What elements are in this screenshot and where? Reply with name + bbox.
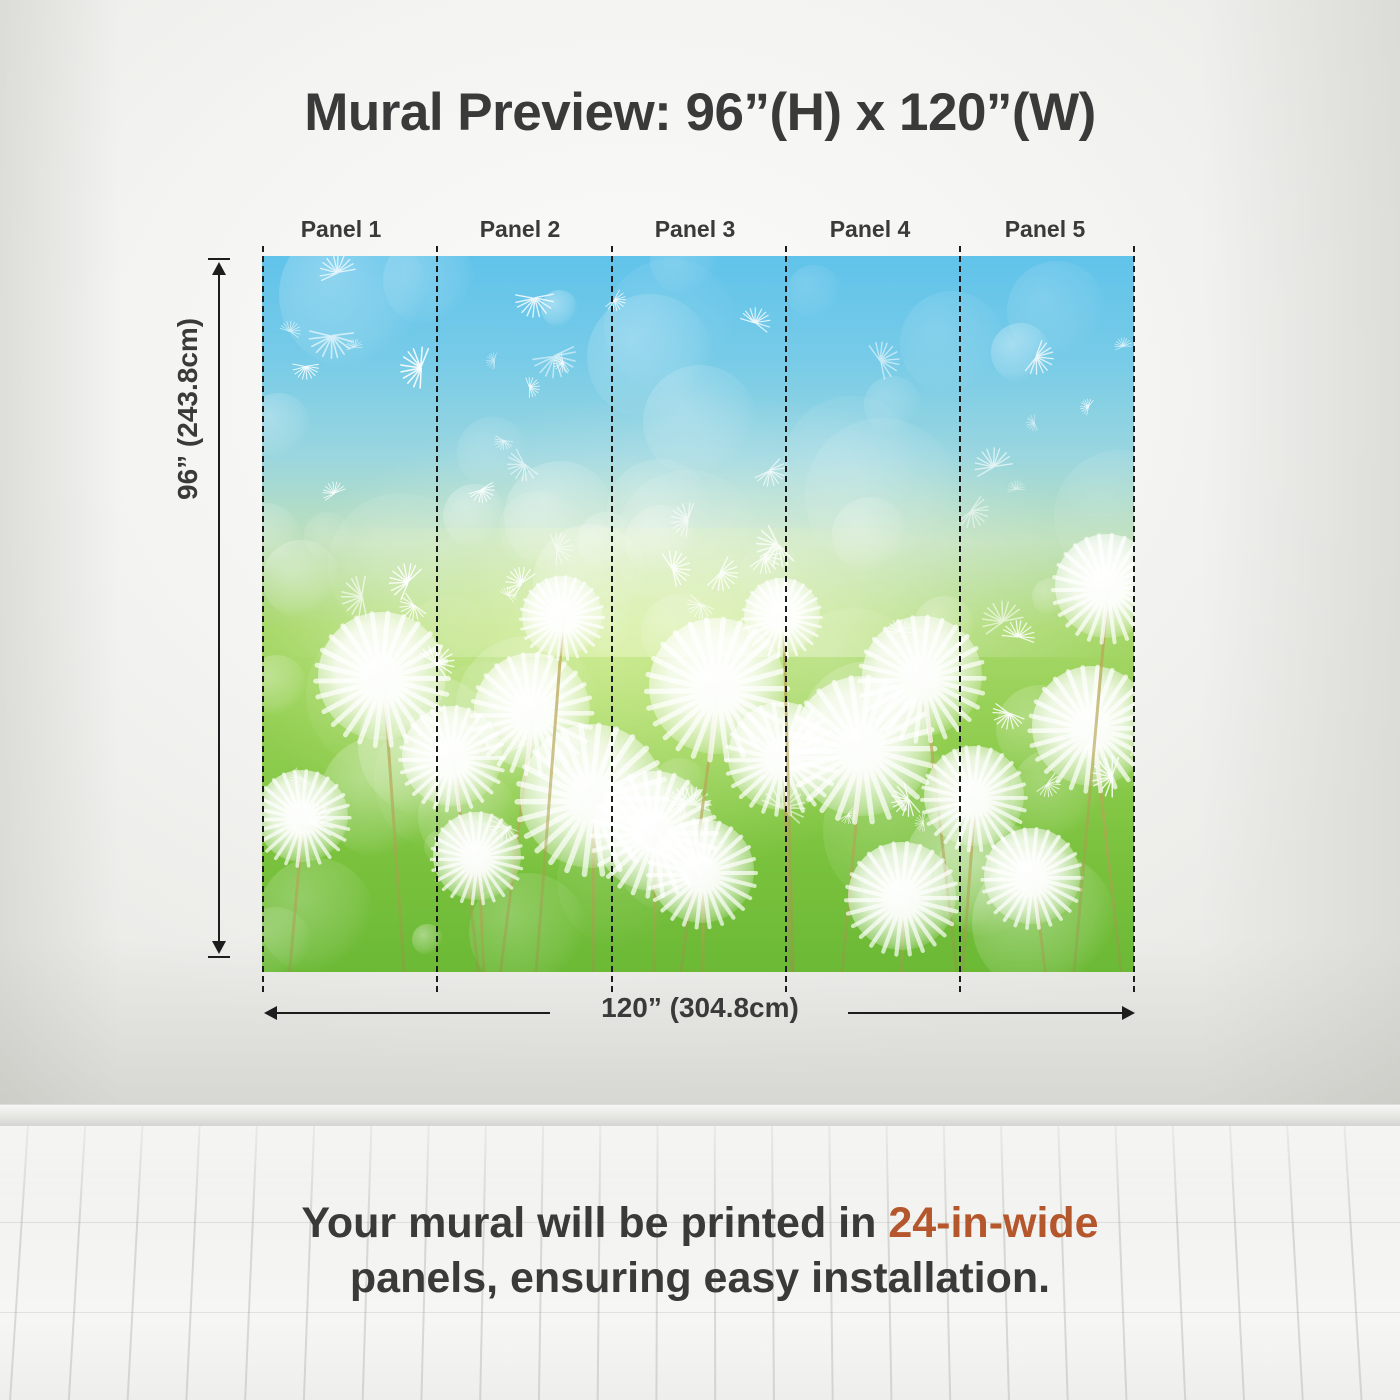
width-dimension-line-right <box>848 1012 1125 1014</box>
height-tick-bottom <box>208 956 230 958</box>
footer-highlight: 24-in-wide <box>888 1199 1098 1247</box>
height-dimension-line <box>218 270 220 946</box>
cut-line-panel-2-3 <box>611 246 613 992</box>
cut-line-panel-4-5 <box>959 246 961 992</box>
width-dimension-label: 120” (304.8cm) <box>560 992 840 1024</box>
width-dimension-line-left <box>272 1012 550 1014</box>
height-arrow-up <box>212 262 226 275</box>
baseboard <box>0 1104 1400 1127</box>
cut-line-right-edge <box>1133 246 1135 992</box>
panel-label-2: Panel 2 <box>430 216 610 243</box>
page-title: Mural Preview: 96”(H) x 120”(W) <box>0 82 1400 143</box>
width-arrow-left <box>264 1006 277 1020</box>
height-tick-top <box>208 258 230 260</box>
width-arrow-right <box>1122 1006 1135 1020</box>
mural-preview-image <box>262 256 1134 972</box>
footer-note: Your mural will be printed in 24-in-wide… <box>0 1196 1400 1305</box>
height-dimension-label: 96” (243.8cm) <box>172 318 204 500</box>
panel-label-1: Panel 1 <box>251 216 431 243</box>
footer-line-1: Your mural will be printed in 24-in-wide <box>0 1196 1400 1251</box>
footer-line-1-text: Your mural will be printed in <box>301 1199 888 1247</box>
mural-preview-page: Mural Preview: 96”(H) x 120”(W) Panel 1 … <box>0 0 1400 1400</box>
cut-line-panel-1-2 <box>436 246 438 992</box>
cut-line-left-edge <box>262 246 264 992</box>
cut-line-panel-3-4 <box>785 246 787 992</box>
panel-label-5: Panel 5 <box>955 216 1135 243</box>
footer-line-2: panels, ensuring easy installation. <box>0 1251 1400 1306</box>
height-arrow-down <box>212 941 226 954</box>
panel-label-4: Panel 4 <box>780 216 960 243</box>
panel-label-3: Panel 3 <box>605 216 785 243</box>
mural-artwork <box>262 256 1134 972</box>
